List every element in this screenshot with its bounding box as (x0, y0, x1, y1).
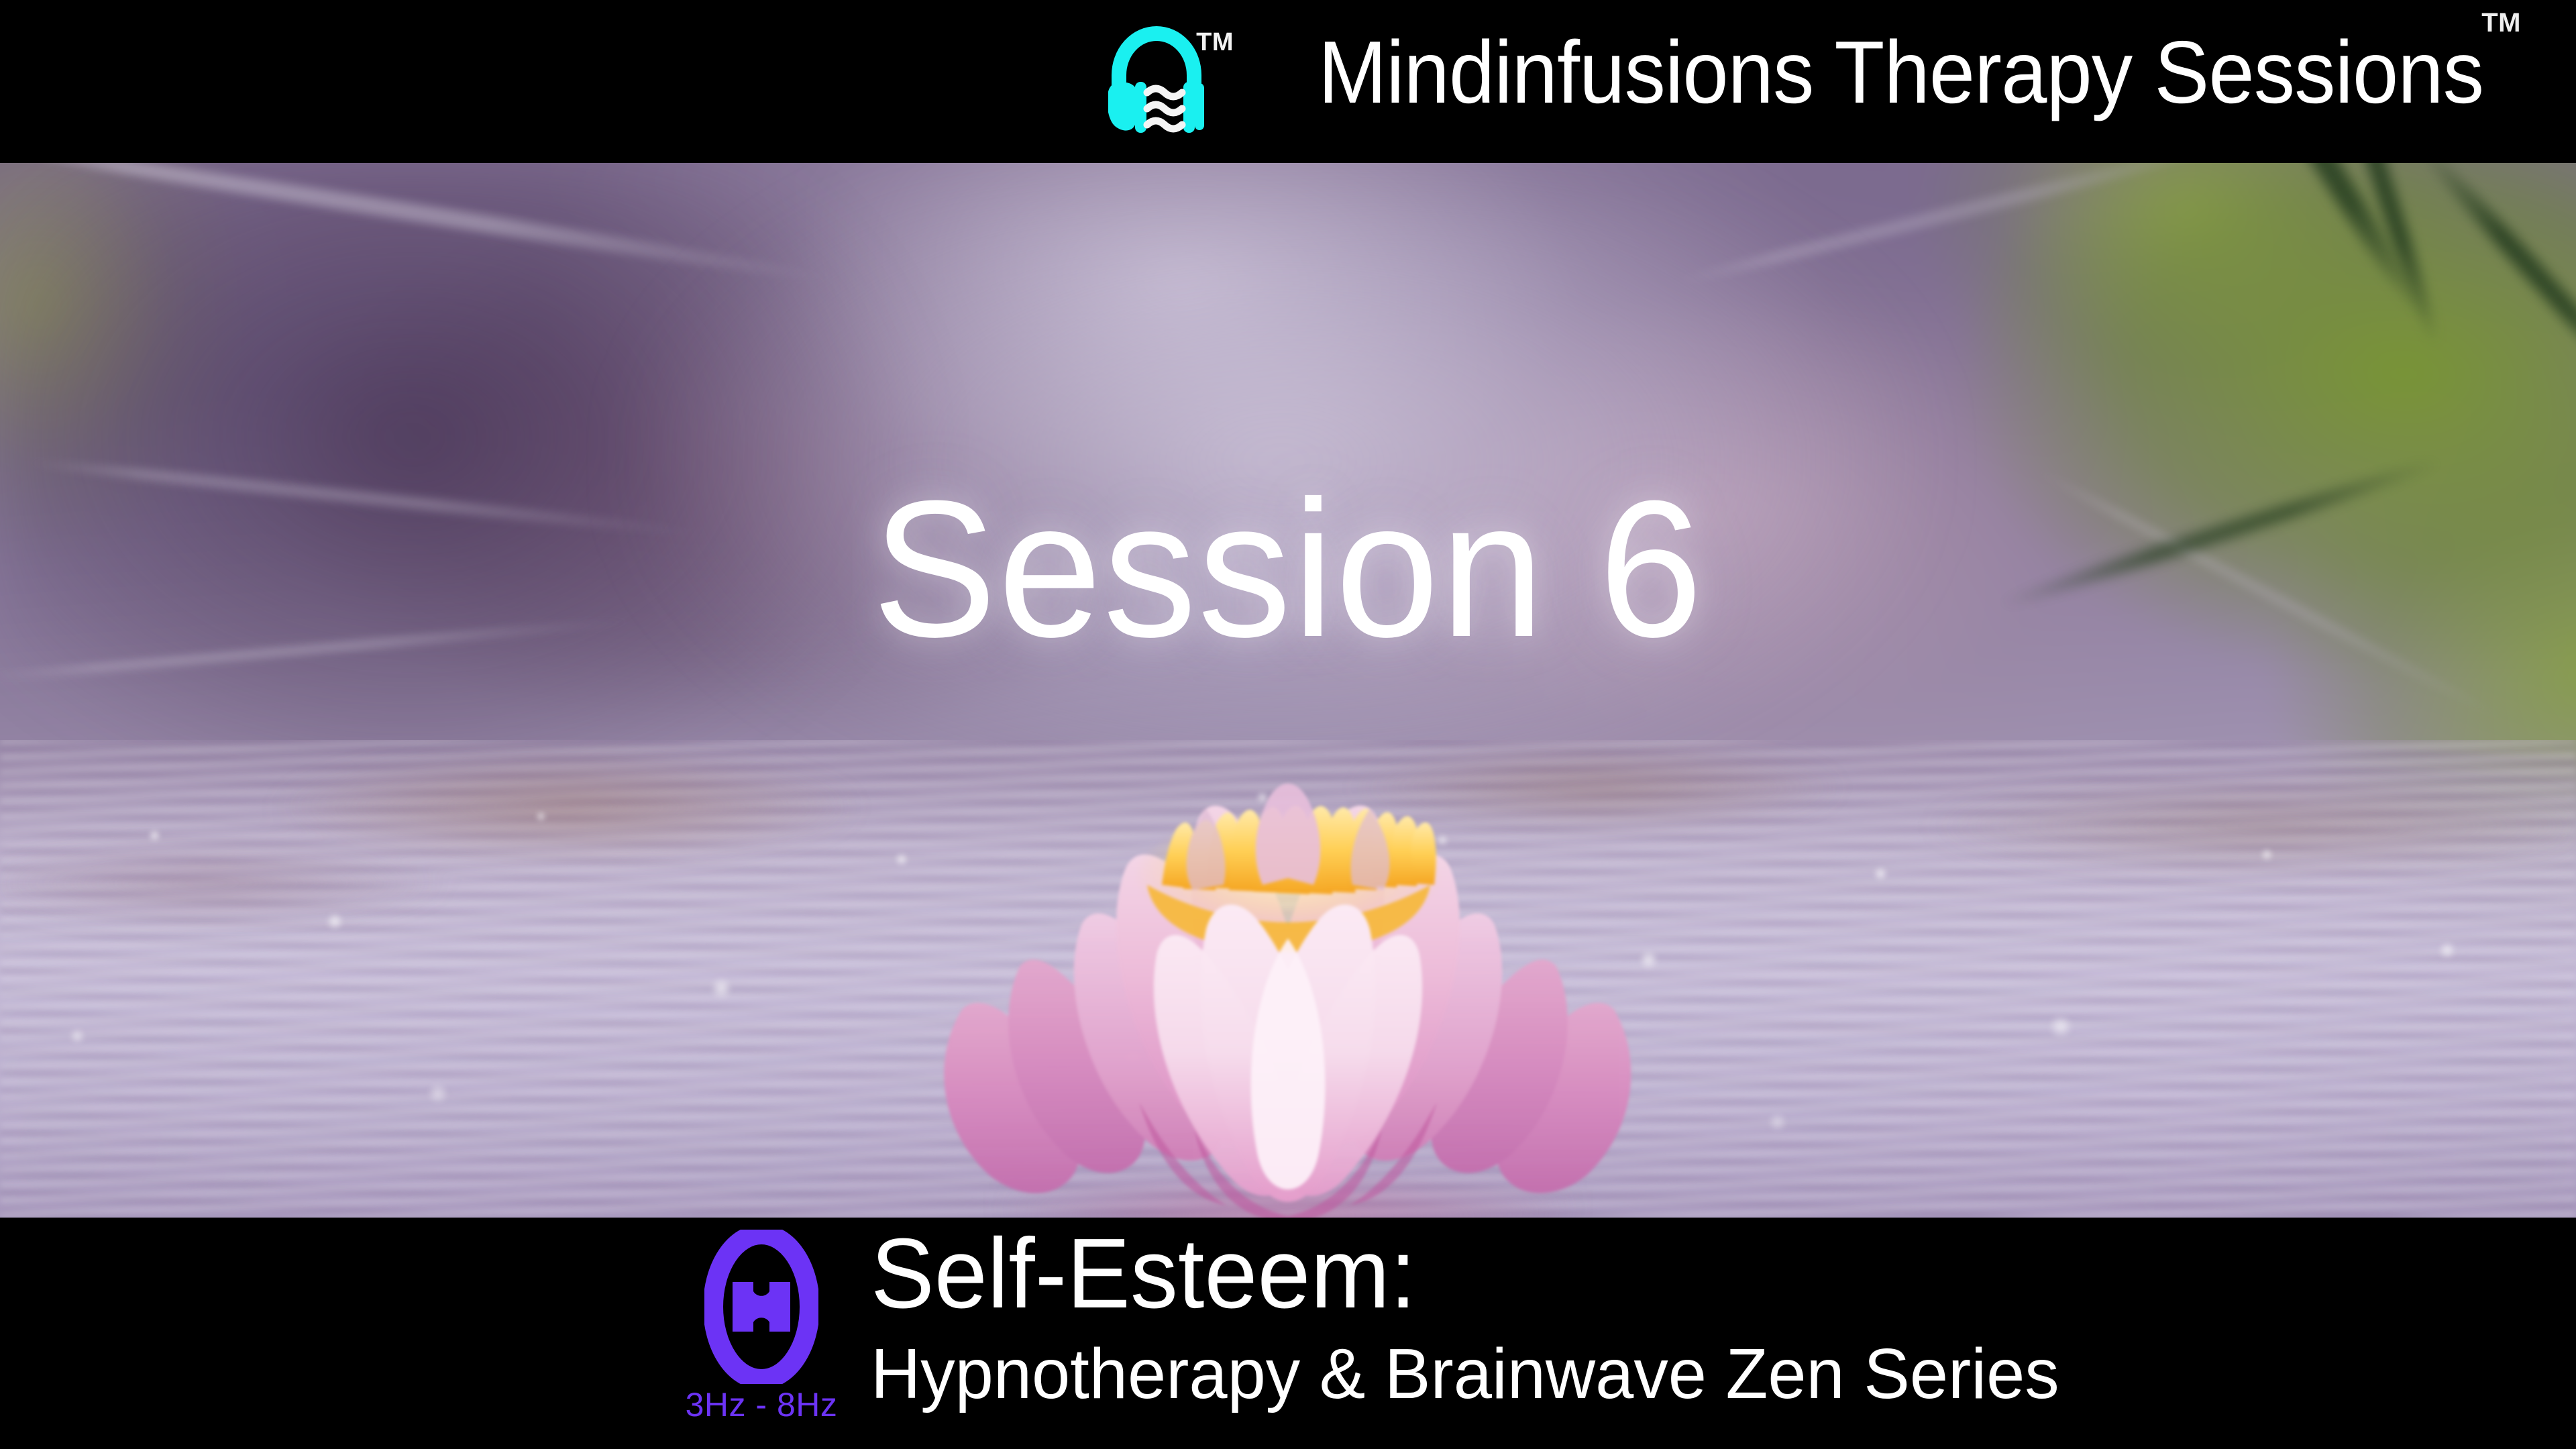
footer-lockup: 3Hz - 8Hz Self-Esteem: Hypnotherapy & Br… (678, 1218, 2096, 1449)
series-subtitle: Hypnotherapy & Brainwave Zen Series (871, 1338, 2059, 1409)
footer-bar: 3Hz - 8Hz Self-Esteem: Hypnotherapy & Br… (0, 1218, 2576, 1449)
brainwave-badge: 3Hz - 8Hz (678, 1218, 845, 1449)
page-title: Session 6 (52, 472, 2524, 666)
brand-logo: TM (1108, 17, 1216, 137)
session-topic-title: Self-Esteem: (871, 1224, 2047, 1324)
header-bar: TM Mindinfusions Therapy Sessions TM (0, 0, 2576, 163)
lotus-flower (926, 753, 1650, 1218)
video-thumbnail-slide: Session 6 (0, 0, 2576, 1449)
brand-title: Mindinfusions Therapy Sessions (1318, 28, 2521, 126)
brand-lockup: TM Mindinfusions Therapy Sessions (1108, 8, 2521, 146)
footer-text-block: Self-Esteem: Hypnotherapy & Brainwave Ze… (871, 1218, 2096, 1409)
theta-symbol-icon (704, 1230, 818, 1384)
brainwave-frequency-range: 3Hz - 8Hz (686, 1388, 838, 1421)
artwork-photo: Session 6 (0, 163, 2576, 1218)
logo-trademark-mark: TM (1196, 30, 1234, 55)
title-trademark-mark: TM (2481, 9, 2521, 36)
